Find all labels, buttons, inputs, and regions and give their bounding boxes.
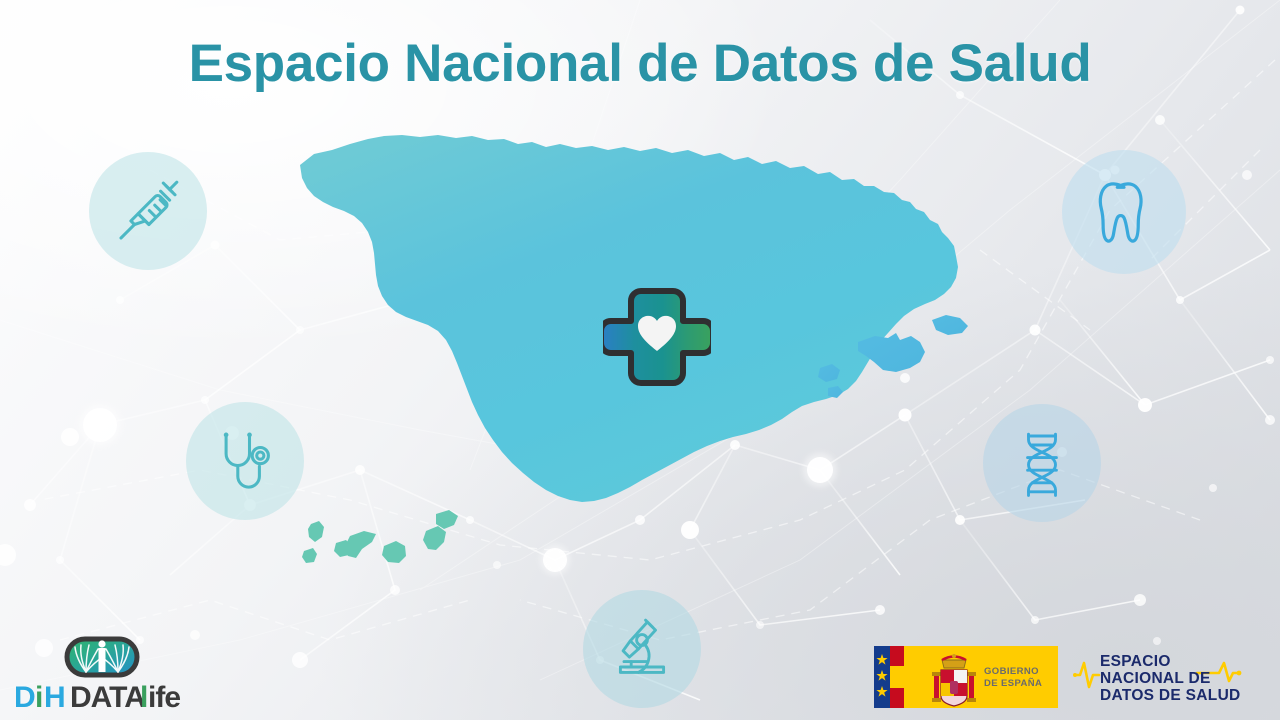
- ends-line1: ESPACIO: [1100, 653, 1171, 670]
- gobierno-de-espana-logo: GOBIERNO DE ESPAÑA: [874, 646, 1058, 708]
- ends-line2: NACIONAL DE: [1100, 670, 1211, 687]
- dih-datalife-logo: D i H DATA l ife: [12, 636, 188, 716]
- dih-datalife-mark: [64, 636, 140, 678]
- dna-icon: [983, 404, 1101, 522]
- svg-text:DATA: DATA: [70, 681, 145, 714]
- microscope-icon: [583, 590, 701, 708]
- page-title: Espacio Nacional de Datos de Salud: [0, 33, 1280, 94]
- svg-text:i: i: [35, 681, 42, 714]
- dih-datalife-wordmark: D i H DATA l ife: [12, 678, 188, 716]
- tooth-icon: [1062, 150, 1186, 274]
- syringe-icon: [89, 152, 207, 270]
- ends-line3: DATOS DE SALUD: [1100, 687, 1241, 704]
- svg-text:H: H: [44, 681, 65, 714]
- gobierno-line1: GOBIERNO: [984, 666, 1039, 677]
- health-cross-heart-emblem: [603, 283, 711, 391]
- svg-text:D: D: [14, 681, 35, 714]
- slide-root: Espacio Nacional de Datos de Salud: [0, 0, 1280, 720]
- svg-text:l: l: [140, 681, 147, 714]
- map-region-canary-islands: [286, 506, 486, 576]
- gobierno-line2: DE ESPAÑA: [984, 678, 1042, 689]
- stethoscope-icon: [186, 402, 304, 520]
- svg-text:ife: ife: [148, 681, 180, 714]
- espacio-nacional-datos-salud-logo: ESPACIO NACIONAL DE DATOS DE SALUD: [1073, 645, 1269, 707]
